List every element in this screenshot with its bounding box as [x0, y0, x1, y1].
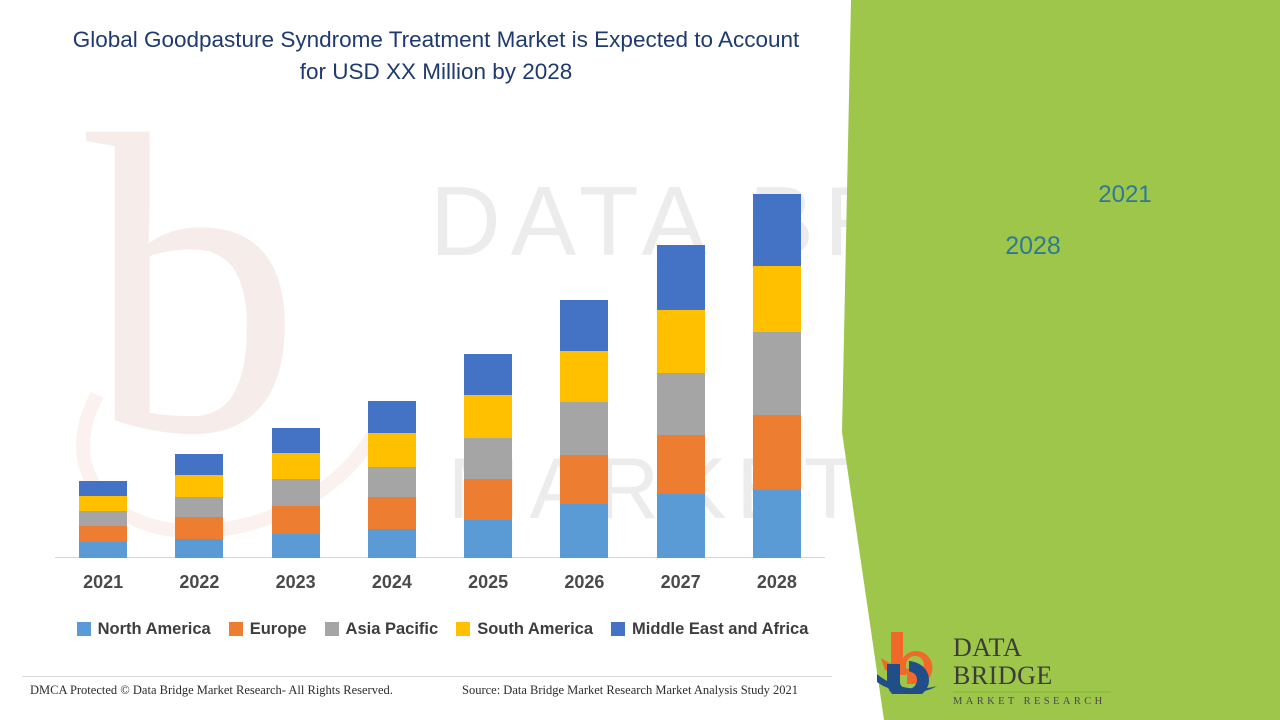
bar-stack	[272, 428, 320, 558]
bar-segment	[560, 351, 608, 403]
bar-segment	[175, 539, 223, 558]
bar-segment	[79, 526, 127, 542]
bar-segment	[753, 415, 801, 489]
logo-mark-icon	[875, 628, 947, 694]
bar-segment	[657, 310, 705, 374]
legend-item[interactable]: South America	[456, 620, 593, 639]
bar-segment	[175, 454, 223, 475]
footer-dmca-text: DMCA Protected © Data Bridge Market Rese…	[30, 683, 393, 698]
bar-stack	[464, 354, 512, 558]
bar-segment	[560, 504, 608, 558]
bar-segment	[175, 475, 223, 497]
stacked-bar-chart	[55, 160, 825, 558]
bar-segment	[753, 332, 801, 415]
bar-segment	[368, 529, 416, 558]
footer-divider	[22, 676, 832, 677]
legend-label: Asia Pacific	[346, 620, 439, 639]
bar-stack	[175, 454, 223, 558]
bar-segment	[272, 506, 320, 534]
bar-column-2023	[248, 428, 344, 558]
bar-column-2028	[729, 194, 825, 558]
bar-stack	[657, 245, 705, 558]
legend-swatch-icon	[611, 622, 625, 636]
x-axis-label-2028: 2028	[729, 572, 825, 593]
bar-stack	[753, 194, 801, 558]
bar-segment	[464, 520, 512, 558]
bar-stack	[560, 300, 608, 558]
bar-column-2027	[633, 245, 729, 558]
bar-column-2021	[55, 481, 151, 558]
logo-rule	[953, 691, 1111, 693]
chart-title: Global Goodpasture Syndrome Treatment Ma…	[62, 24, 810, 88]
legend-item[interactable]: Asia Pacific	[325, 620, 439, 639]
bar-segment	[657, 435, 705, 494]
bar-segment	[79, 481, 127, 496]
footer-source-text: Source: Data Bridge Market Research Mark…	[462, 683, 798, 698]
legend-swatch-icon	[77, 622, 91, 636]
brand-name: DATA BRIDGE MARKET RESEARCH	[950, 310, 1250, 374]
footer: DMCA Protected © Data Bridge Market Rese…	[22, 683, 834, 707]
legend-swatch-icon	[325, 622, 339, 636]
bar-segment	[175, 497, 223, 518]
bar-segment	[657, 373, 705, 435]
bar-segment	[560, 455, 608, 505]
bar-segment	[560, 402, 608, 455]
bar-segment	[657, 245, 705, 310]
bar-segment	[464, 438, 512, 479]
legend-item[interactable]: North America	[77, 620, 211, 639]
legend-swatch-icon	[456, 622, 470, 636]
data-bridge-logo: DATA BRIDGE MARKET RESEARCH	[875, 628, 1115, 698]
bar-segment	[464, 479, 512, 521]
bar-segment	[753, 490, 801, 558]
x-axis-label-2022: 2022	[151, 572, 247, 593]
legend-label: Middle East and Africa	[632, 620, 808, 639]
chart-legend: North AmericaEuropeAsia PacificSouth Ame…	[55, 617, 830, 641]
logo-text: DATA BRIDGE MARKET RESEARCH	[953, 634, 1113, 708]
bar-stack	[79, 481, 127, 558]
bar-segment	[272, 428, 320, 453]
bar-segment	[560, 300, 608, 351]
hexagon-2028-label: 2028	[1005, 232, 1061, 261]
bar-segment	[657, 494, 705, 559]
hexagon-2021-label: 2021	[1098, 181, 1151, 209]
bar-segment	[79, 542, 127, 558]
hexagon-group: 2028 2021	[975, 143, 1195, 293]
x-axis-label-2021: 2021	[55, 572, 151, 593]
x-axis-label-2023: 2023	[248, 572, 344, 593]
bar-segment	[368, 401, 416, 433]
bar-column-2024	[344, 401, 440, 558]
bar-segment	[175, 517, 223, 539]
logo-title: DATA BRIDGE	[953, 634, 1113, 690]
legend-swatch-icon	[229, 622, 243, 636]
bar-segment	[272, 479, 320, 507]
bar-column-2026	[536, 300, 632, 558]
bar-segment	[368, 433, 416, 467]
x-axis-label-2024: 2024	[344, 572, 440, 593]
legend-label: Europe	[250, 620, 307, 639]
x-axis-label-2025: 2025	[440, 572, 536, 593]
bar-segment	[464, 395, 512, 438]
legend-item[interactable]: Europe	[229, 620, 307, 639]
bar-segment	[272, 453, 320, 479]
legend-item[interactable]: Middle East and Africa	[611, 620, 808, 639]
bar-segment	[272, 534, 320, 558]
bar-segment	[753, 194, 801, 266]
panel-title: Global Goodpasture Syndrome Treatment Ma…	[880, 12, 1262, 105]
infographic-canvas: b DATA BRIDGE MARKET RESEARCH Global Goo…	[0, 0, 1280, 720]
bar-segment	[368, 497, 416, 529]
x-axis-labels: 20212022202320242025202620272028	[55, 572, 825, 598]
bar-stack	[368, 401, 416, 558]
hexagon-2028: 2028	[975, 182, 1091, 310]
bar-segment	[753, 266, 801, 332]
x-axis-label-2027: 2027	[633, 572, 729, 593]
bar-column-2022	[151, 454, 247, 558]
bar-segment	[79, 511, 127, 526]
bar-segment	[79, 496, 127, 512]
bar-segment	[464, 354, 512, 396]
legend-label: North America	[98, 620, 211, 639]
bar-segment	[368, 467, 416, 498]
legend-label: South America	[477, 620, 593, 639]
bar-column-2025	[440, 354, 536, 558]
hexagon-2021: 2021	[1078, 143, 1172, 247]
logo-subtitle: MARKET RESEARCH	[953, 695, 1113, 708]
x-axis-label-2026: 2026	[536, 572, 632, 593]
